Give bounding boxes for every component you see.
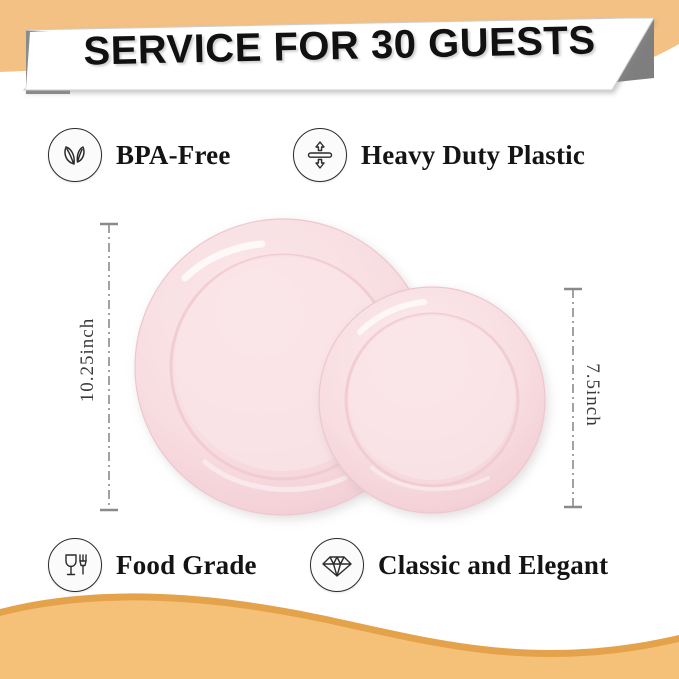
infographic-canvas: SERVICE FOR 30 GUESTS BPA-Free Heavy Dut… bbox=[0, 0, 679, 679]
dimension-label-salad-plate: 7.5inch bbox=[581, 363, 603, 426]
bottom-orange-wave bbox=[0, 569, 679, 679]
salad-plate bbox=[319, 287, 545, 513]
dimension-label-dinner-plate: 10.25inch bbox=[77, 318, 99, 402]
dimension-line-left bbox=[96, 222, 122, 512]
